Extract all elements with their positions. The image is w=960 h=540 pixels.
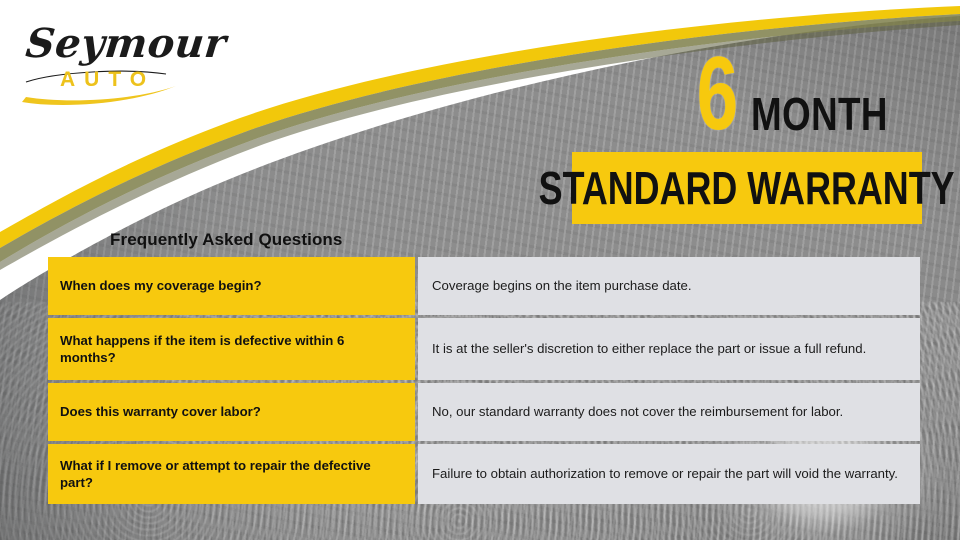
warranty-duration-line: 6 MONTH — [572, 52, 922, 137]
faq-heading: Frequently Asked Questions — [110, 230, 342, 250]
table-row: What happens if the item is defective wi… — [48, 318, 920, 380]
warranty-title-bar: STANDARD WARRANTY — [572, 152, 922, 224]
logo-script-text: Seymour — [24, 20, 229, 67]
faq-answer-cell: Coverage begins on the item purchase dat… — [418, 257, 920, 315]
faq-table: When does my coverage begin? Coverage be… — [48, 257, 920, 504]
faq-answer-cell: Failure to obtain authorization to remov… — [418, 444, 920, 504]
faq-question-cell: Does this warranty cover labor? — [48, 383, 415, 441]
faq-question-cell: What happens if the item is defective wi… — [48, 318, 415, 380]
warranty-badge: 6 MONTH STANDARD WARRANTY — [572, 52, 922, 224]
warranty-slide: Seymour AUTO 6 MONTH STANDARD WARRANTY F… — [0, 0, 960, 540]
faq-question-cell: What if I remove or attempt to repair th… — [48, 444, 415, 504]
table-row: What if I remove or attempt to repair th… — [48, 444, 920, 504]
seymour-auto-logo: Seymour AUTO — [16, 18, 184, 110]
faq-answer-cell: It is at the seller's discretion to eith… — [418, 318, 920, 380]
table-row: Does this warranty cover labor? No, our … — [48, 383, 920, 441]
warranty-month-count: 6 — [697, 52, 737, 137]
warranty-period-label: MONTH — [751, 96, 888, 138]
faq-question-cell: When does my coverage begin? — [48, 257, 415, 315]
table-row: When does my coverage begin? Coverage be… — [48, 257, 920, 315]
warranty-title-text: STANDARD WARRANTY — [539, 161, 955, 215]
logo-sub-text: AUTO — [60, 68, 155, 92]
faq-answer-cell: No, our standard warranty does not cover… — [418, 383, 920, 441]
